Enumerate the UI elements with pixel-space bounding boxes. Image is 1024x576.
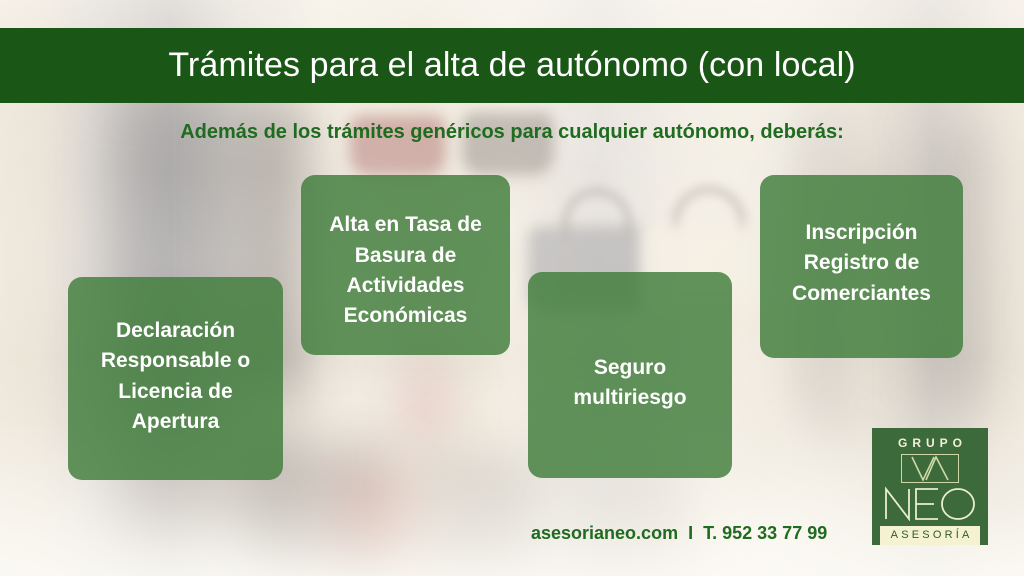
logo-bottom-word: ASESORÍA xyxy=(880,526,980,545)
logo-brand-neo xyxy=(882,485,978,521)
contact-separator: I xyxy=(683,523,698,543)
subtitle-text: Además de los trámites genéricos para cu… xyxy=(0,121,1024,144)
step-box-label: Alta en Tasa de Basura de Actividades Ec… xyxy=(315,210,496,332)
logo-grupo-neo-asesoria[interactable]: GRUPO ASESORÍA xyxy=(872,428,988,545)
va-monogram-icon xyxy=(901,454,959,483)
step-box-tasa-basura[interactable]: Alta en Tasa de Basura de Actividades Ec… xyxy=(301,175,510,355)
page-title: Trámites para el alta de autónomo (con l… xyxy=(168,46,855,85)
website-link[interactable]: asesorianeo.com xyxy=(531,523,678,543)
step-box-label: Seguro multiriesgo xyxy=(542,353,718,414)
step-box-registro-comerciantes[interactable]: Inscripción Registro de Comerciantes xyxy=(760,175,963,358)
step-box-label: Declaración Responsable o Licencia de Ap… xyxy=(82,316,269,442)
phone-number[interactable]: T. 952 33 77 99 xyxy=(703,523,827,543)
step-box-declaracion-responsable[interactable]: Declaración Responsable o Licencia de Ap… xyxy=(68,277,283,480)
slide-canvas: Trámites para el alta de autónomo (con l… xyxy=(0,0,1024,576)
logo-top-word: GRUPO xyxy=(893,437,967,449)
header-bar: Trámites para el alta de autónomo (con l… xyxy=(0,28,1024,103)
step-box-label: Inscripción Registro de Comerciantes xyxy=(774,218,949,309)
step-box-seguro-multiriesgo[interactable]: Seguro multiriesgo xyxy=(528,272,732,478)
contact-line: asesorianeo.com I T. 952 33 77 99 xyxy=(531,523,827,544)
